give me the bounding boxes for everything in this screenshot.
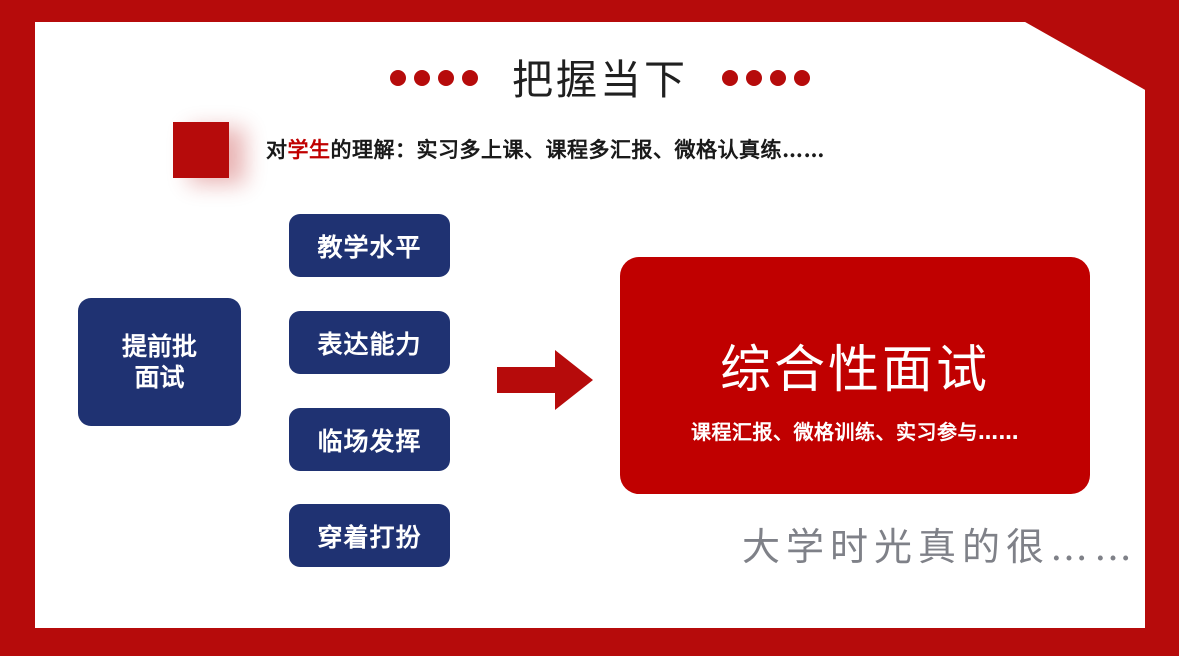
slide-canvas: 把握当下 对学生的理解：实习多上课、课程多汇报、微格认真练…… 提前批 面试 教… [0,0,1179,656]
dot-icon [390,70,406,86]
page-title: 把握当下 [512,46,688,106]
dot-icon [438,70,454,86]
left-box-line-2: 面试 [134,362,184,393]
dot-icon [746,70,762,86]
arrow-right-icon [497,348,593,412]
subtitle-suffix: 的理解：实习多上课、课程多汇报、微格认真练…… [331,137,826,162]
decorative-dots-left [390,66,478,86]
left-box-line-1: 提前批 [122,331,197,362]
dot-icon [414,70,430,86]
dot-icon [794,70,810,86]
subtitle-text: 对学生的理解：实习多上课、课程多汇报、微格认真练…… [266,134,825,164]
footnote-text: 大学时光真的很…… [742,516,1138,571]
dot-icon [722,70,738,86]
title-row: 把握当下 [300,48,900,104]
criterion-chip-teaching-level[interactable]: 教学水平 [289,214,450,277]
dot-icon [462,70,478,86]
subtitle-prefix: 对 [266,137,288,162]
outcome-box-title: 综合性面试 [720,328,990,402]
outcome-box-subtitle: 课程汇报、微格训练、实习参与…… [691,416,1019,445]
decorative-dots-right [722,66,810,86]
chip-label: 穿着打扮 [317,518,421,554]
accent-square [173,122,229,178]
stage-box-early-interview[interactable]: 提前批 面试 [78,298,241,426]
chip-label: 临场发挥 [317,422,421,458]
outcome-box-comprehensive-interview[interactable]: 综合性面试 课程汇报、微格训练、实习参与…… [620,257,1090,494]
chip-label: 表达能力 [317,325,421,361]
chip-label: 教学水平 [317,228,421,264]
criterion-chip-expression-ability[interactable]: 表达能力 [289,311,450,374]
subtitle-highlight: 学生 [288,137,331,162]
criterion-chip-dress-style[interactable]: 穿着打扮 [289,504,450,567]
criterion-chip-on-site-performance[interactable]: 临场发挥 [289,408,450,471]
dot-icon [770,70,786,86]
